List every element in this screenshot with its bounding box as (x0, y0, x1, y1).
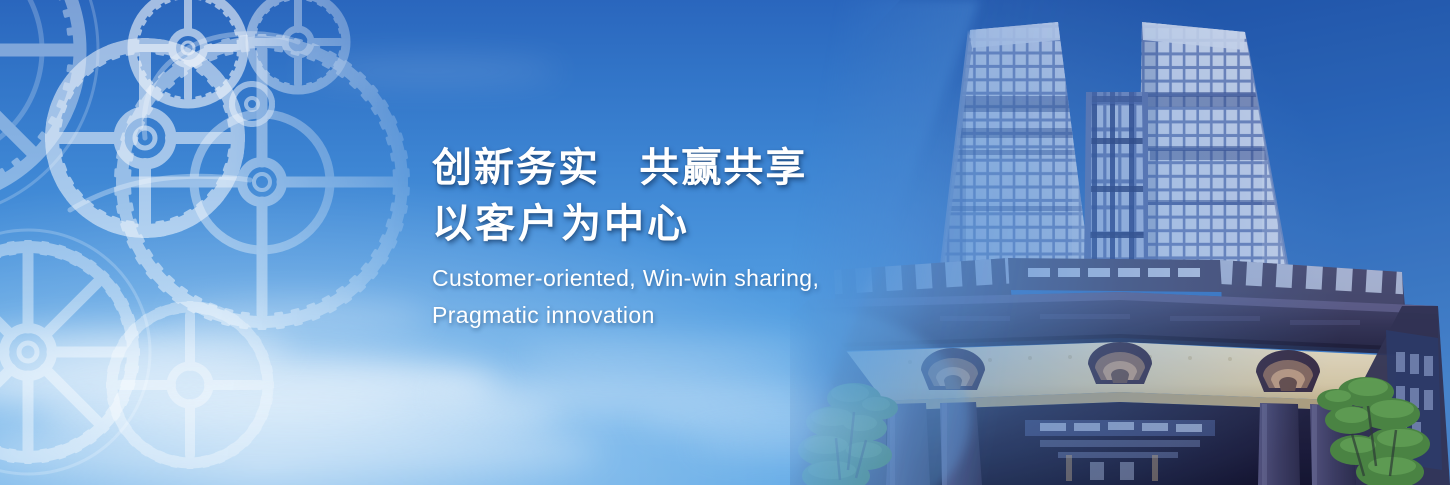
headline-line-1: 创新务实 共赢共享 (432, 140, 1052, 196)
corporate-hero-banner: 创新务实 共赢共享 以客户为中心 Customer-oriented, Win-… (0, 0, 1450, 485)
banner-copy-block: 创新务实 共赢共享 以客户为中心 Customer-oriented, Win-… (432, 140, 1052, 334)
subtitle-line-2: Pragmatic innovation (432, 297, 1052, 334)
headline-line-2: 以客户为中心 (432, 196, 1052, 252)
subtitle-line-1: Customer-oriented, Win-win sharing, (432, 260, 1052, 297)
